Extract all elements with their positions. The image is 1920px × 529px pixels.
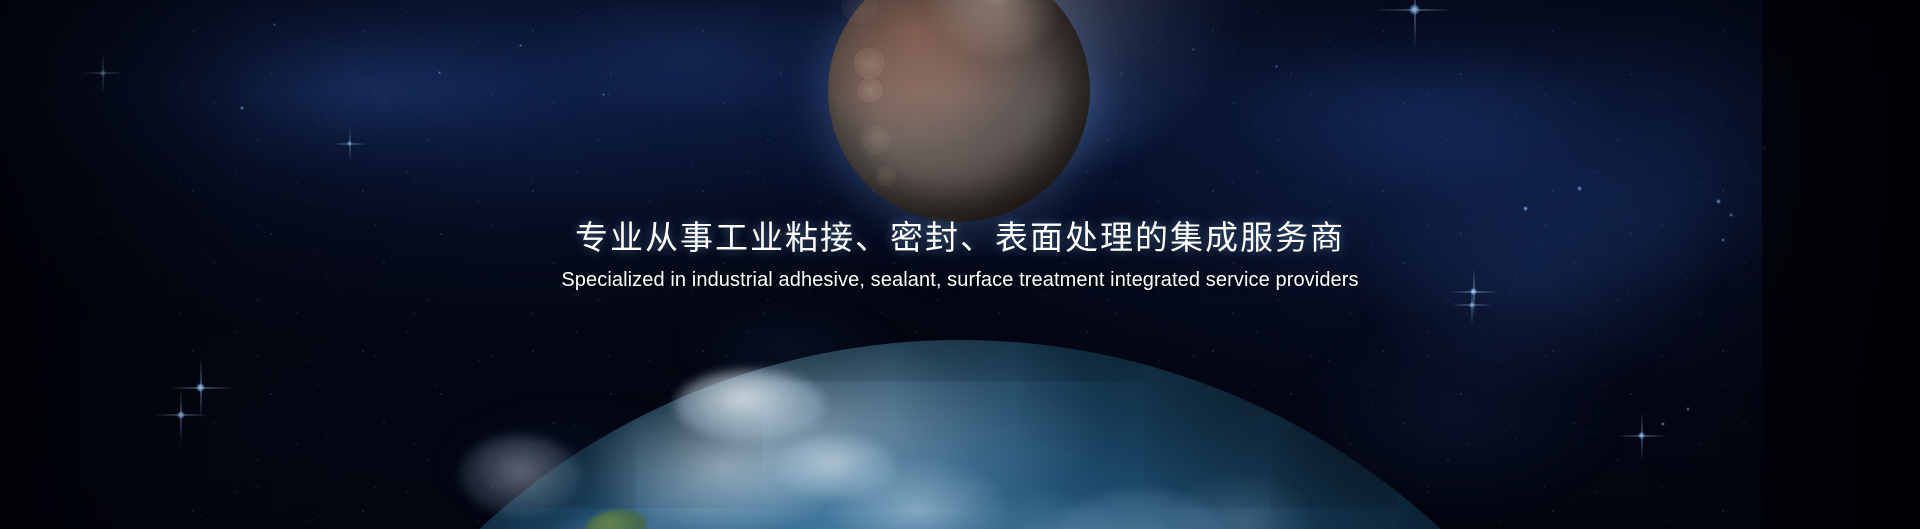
- star-point: [240, 106, 244, 110]
- star-glow: [1409, 4, 1420, 15]
- star-point: [438, 71, 441, 74]
- star-point: [1729, 213, 1733, 217]
- star-glow: [347, 141, 352, 146]
- star-point: [1661, 422, 1665, 426]
- star-point: [1577, 186, 1582, 191]
- star-point: [1523, 206, 1528, 211]
- star-glow: [1638, 432, 1645, 439]
- hero-banner: 专业从事工业粘接、密封、表面处理的集成服务商 Specialized in in…: [0, 0, 1920, 529]
- lens-flare-blob: [862, 126, 890, 154]
- banner-subtitle-english: Specialized in industrial adhesive, seal…: [0, 268, 1920, 292]
- star-point: [1716, 199, 1721, 204]
- star-point: [1686, 407, 1690, 411]
- star-point: [1275, 65, 1278, 68]
- banner-headline: 专业从事工业粘接、密封、表面处理的集成服务商 Specialized in in…: [0, 219, 1920, 292]
- star-point: [273, 23, 276, 26]
- star-point: [519, 44, 522, 47]
- star-glow: [177, 411, 185, 419]
- lens-flare-blob: [858, 78, 882, 102]
- star-glow: [196, 383, 205, 392]
- ice-cap-patch: [775, 436, 895, 498]
- lens-flare-blob: [876, 166, 896, 186]
- banner-title-chinese: 专业从事工业粘接、密封、表面处理的集成服务商: [0, 219, 1920, 259]
- ice-cap-patch: [675, 370, 825, 440]
- star-glow: [1469, 302, 1475, 308]
- star-point: [602, 93, 605, 96]
- star-glow: [100, 70, 106, 76]
- cloud-patch: [460, 435, 580, 515]
- lens-flare-blob: [854, 48, 884, 78]
